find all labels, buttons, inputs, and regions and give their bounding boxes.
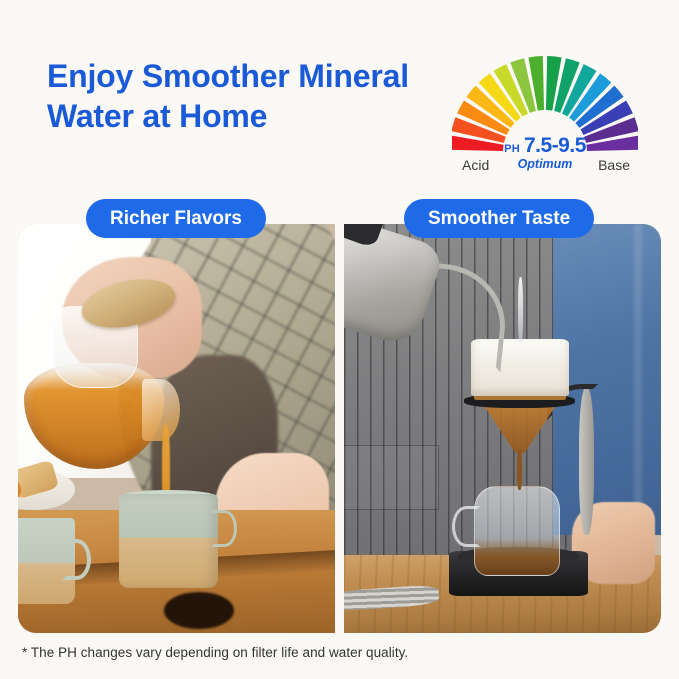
page-title: Enjoy Smoother Mineral Water at Home — [47, 56, 447, 136]
headline-line-2: Water at Home — [47, 96, 447, 136]
photo-panel-smoother-taste — [344, 224, 661, 633]
headline-line-1: Enjoy Smoother Mineral — [47, 56, 447, 96]
ph-range-value: 7.5-9.5 — [524, 134, 586, 158]
tea-pour-scene — [18, 224, 335, 633]
photo-panels — [18, 224, 661, 633]
denim-shirt — [553, 224, 661, 535]
ph-base-label: Base — [598, 157, 630, 173]
ph-gauge-readout: PH 7.5-9.5 Optimum — [480, 134, 610, 171]
ceramic-mug — [119, 494, 217, 588]
ph-unit-label: PH — [504, 143, 520, 155]
badge-smoother-taste: Smoother Taste — [404, 199, 594, 238]
footnote-disclaimer: * The PH changes vary depending on filte… — [22, 645, 408, 660]
badge-richer-flavors: Richer Flavors — [86, 199, 266, 238]
pour-over-scene — [344, 224, 661, 633]
coffee-drip — [517, 449, 521, 490]
promo-page: Enjoy Smoother Mineral Water at Home PH … — [0, 0, 679, 679]
ph-optimum-label: Optimum — [480, 157, 610, 171]
ph-acid-label: Acid — [462, 157, 489, 173]
photo-panel-richer-flavors — [18, 224, 335, 633]
glass-carafe — [474, 486, 560, 576]
ph-gauge: PH 7.5-9.5 Optimum Acid Base — [452, 40, 638, 180]
